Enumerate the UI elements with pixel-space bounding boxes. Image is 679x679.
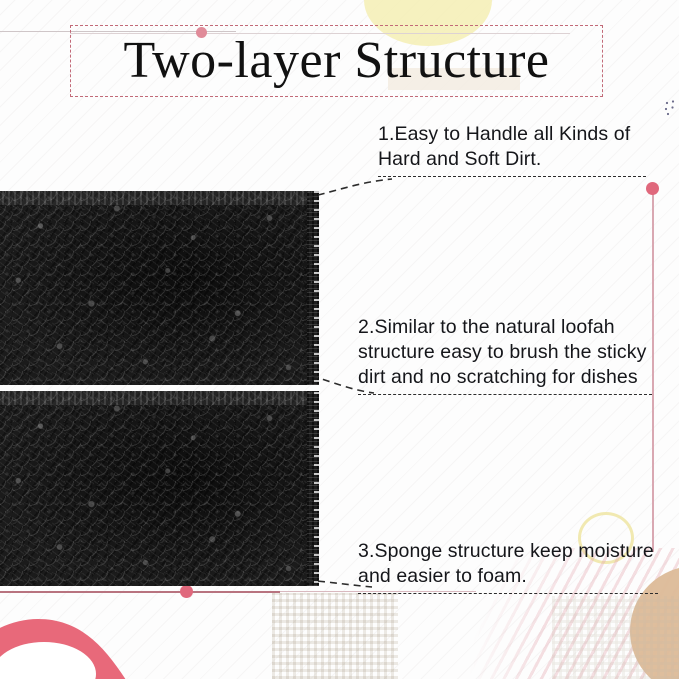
page-title-box: Two-layer Structure xyxy=(70,25,603,97)
sponge-top-edge xyxy=(307,191,319,385)
right-vertical-line xyxy=(652,190,654,552)
callout-1-underline xyxy=(378,176,646,177)
callout-1-text: 1.Easy to Handle all Kinds of Hard and S… xyxy=(378,122,646,172)
small-dots-decoration xyxy=(664,100,679,116)
bottom-rule xyxy=(0,591,280,593)
callout-2: 2.Similar to the natural loofah structur… xyxy=(358,315,652,395)
callout-3-text: 3.Sponge structure keep moisture and eas… xyxy=(358,539,658,589)
sponge-top-rim xyxy=(0,191,314,205)
callout-1: 1.Easy to Handle all Kinds of Hard and S… xyxy=(378,122,646,177)
bottom-dot-marker xyxy=(180,585,193,598)
callout-3-underline xyxy=(358,593,658,594)
pink-sponge-shape-decoration xyxy=(0,595,192,679)
right-vertical-line-dot xyxy=(646,182,659,195)
sponge-bottom-edge xyxy=(307,391,319,586)
product-image xyxy=(0,191,314,586)
infographic-page: Two-layer Structure 1.Easy to Handle all… xyxy=(0,0,679,679)
callout-3: 3.Sponge structure keep moisture and eas… xyxy=(358,539,658,594)
sponge-bottom-layer xyxy=(0,391,314,586)
sponge-bottom-rim xyxy=(0,391,314,405)
callout-2-text: 2.Similar to the natural loofah structur… xyxy=(358,315,652,390)
page-title: Two-layer Structure xyxy=(123,35,549,87)
callout-2-underline xyxy=(358,394,652,395)
dot-grid-decoration xyxy=(272,593,398,679)
sponge-top-layer xyxy=(0,191,314,385)
dot-grid-right-decoration xyxy=(552,596,679,679)
